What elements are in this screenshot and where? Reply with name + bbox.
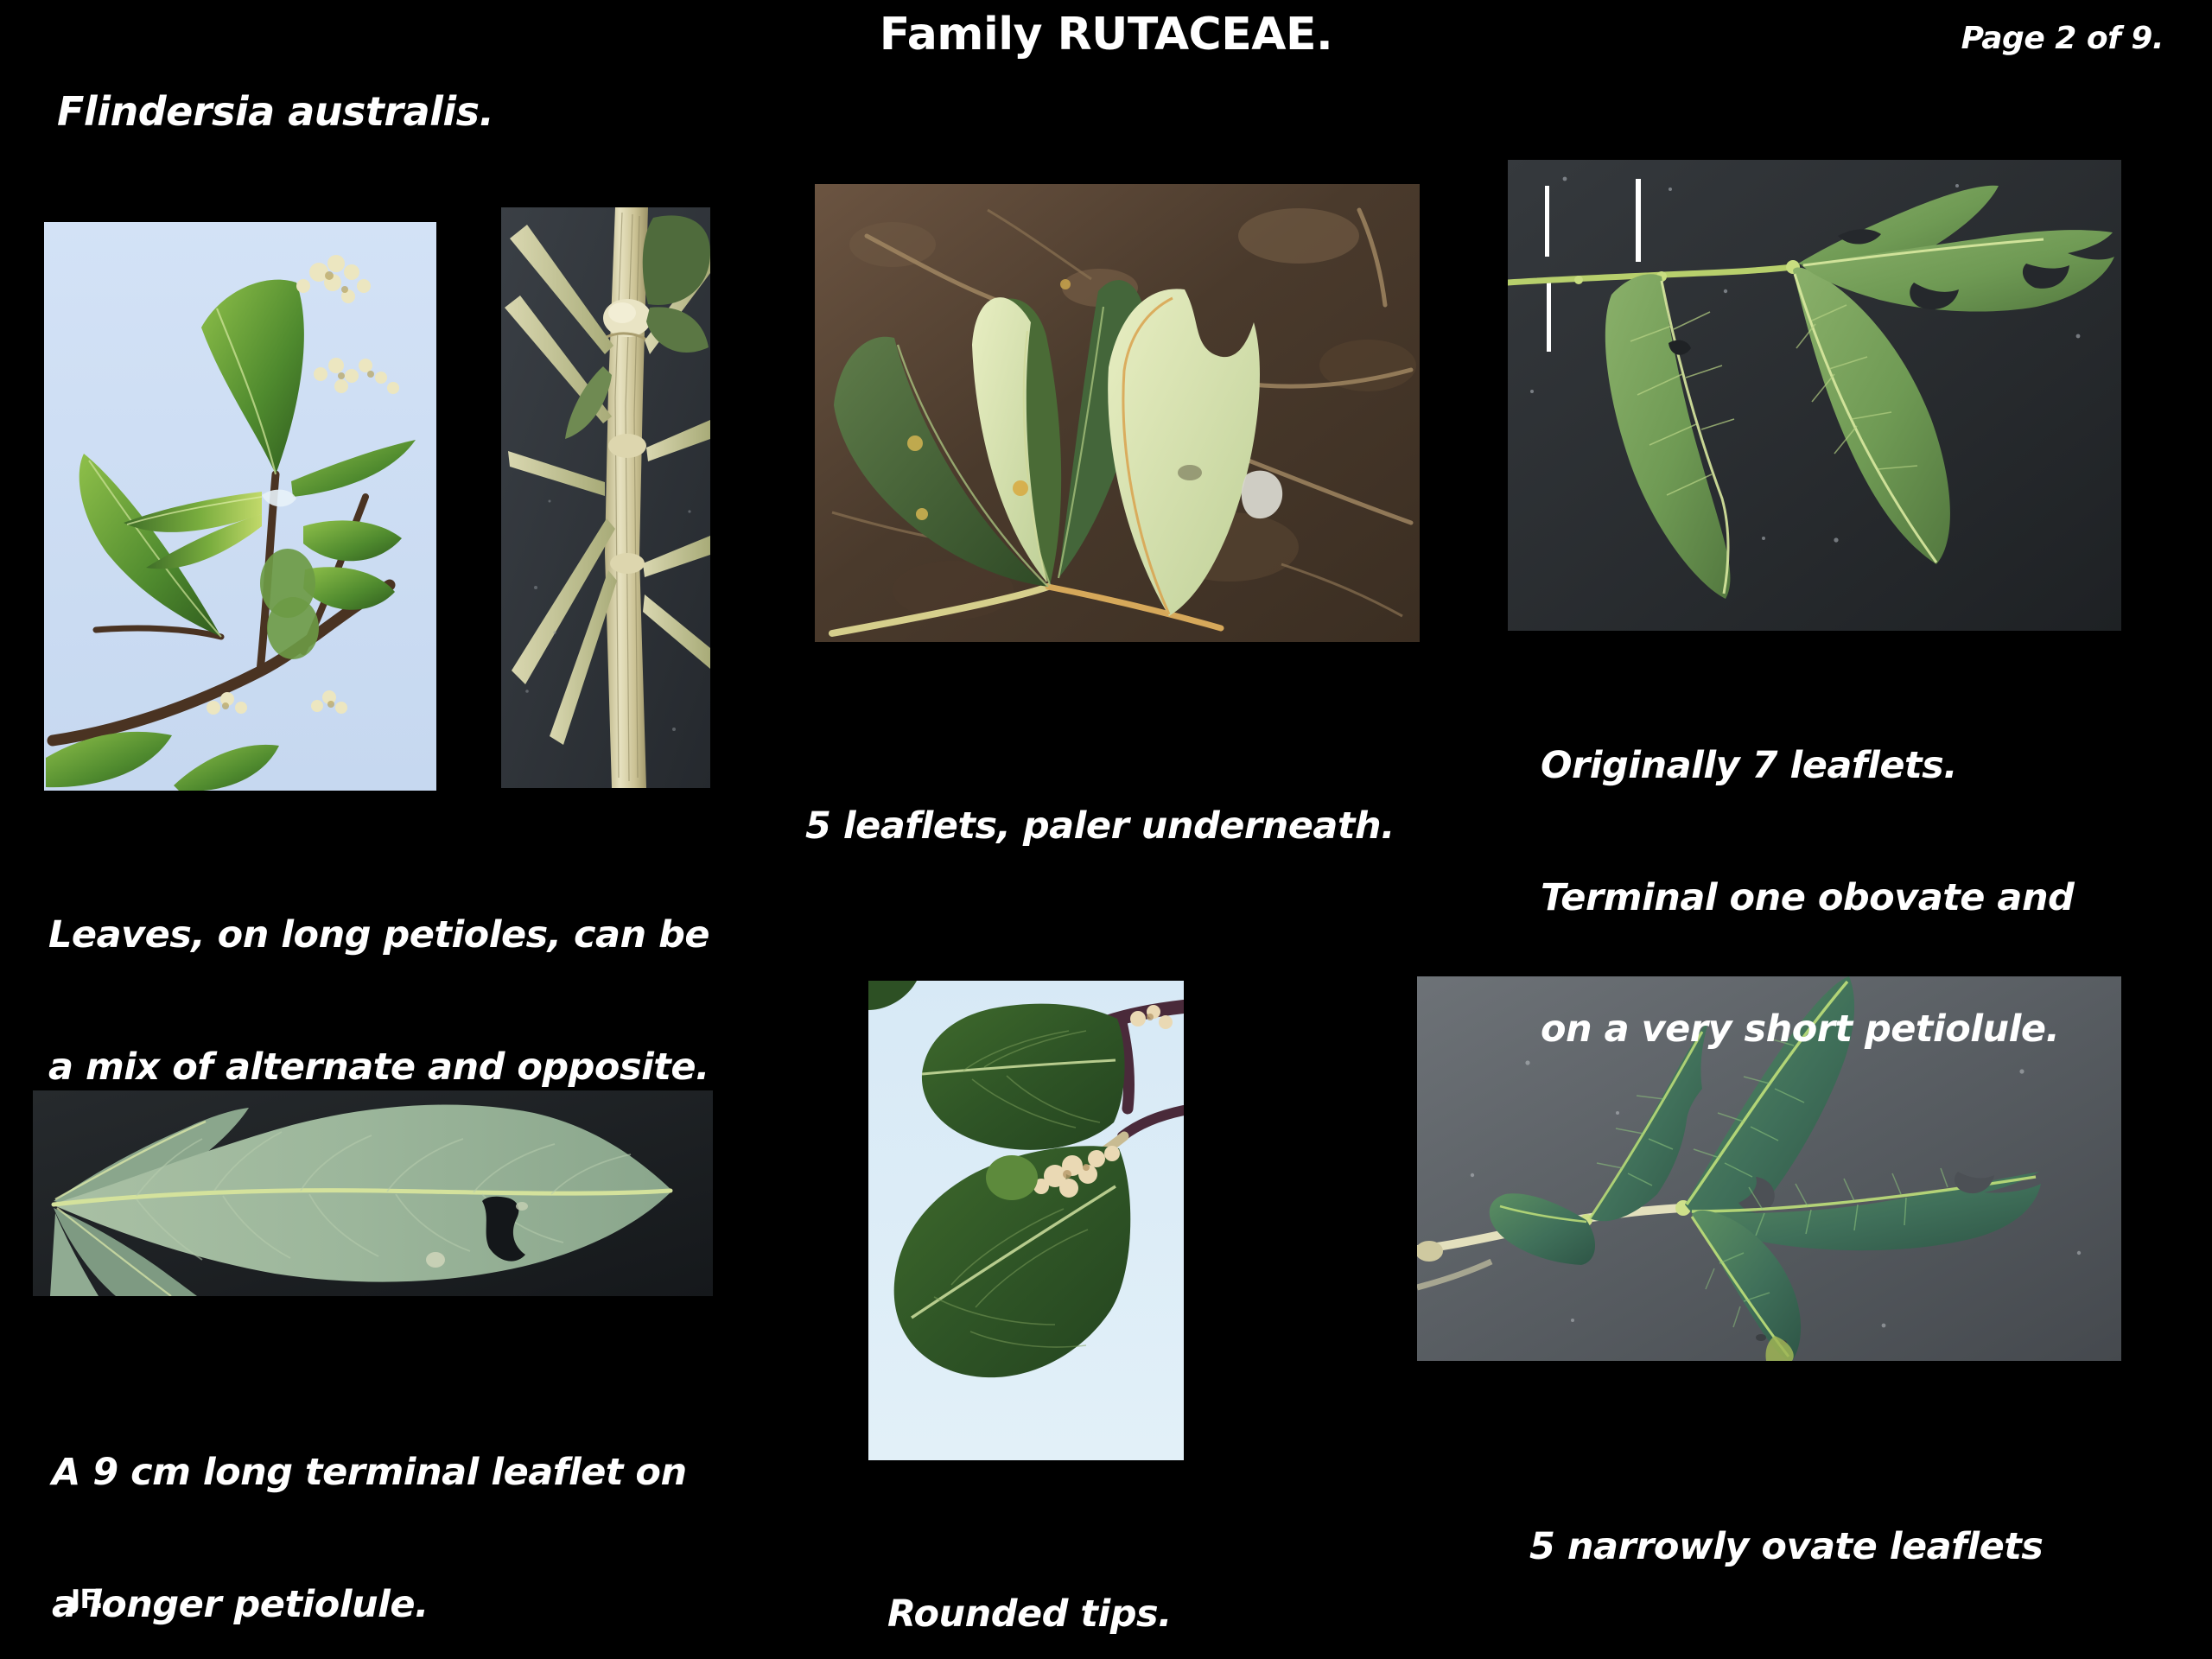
caption-leaves-petioles: Leaves, on long petioles, can be a mix o… <box>48 826 709 1133</box>
caption-rounded-tips: Rounded tips. <box>887 1505 1172 1659</box>
rounded-tips-photo <box>868 981 1184 1460</box>
author-signature: JF. <box>71 1585 103 1615</box>
caption-narrowly-ovate-leaflets: 5 narrowly ovate leaflets with tapering … <box>1529 1438 2043 1659</box>
species-name: Flindersia australis. <box>57 88 494 135</box>
caption-leaflets-paler-underneath: 5 leaflets, paler underneath. <box>805 717 1395 893</box>
caption-line: Originally 7 leaflets. <box>1541 744 2074 788</box>
seven-leaflets-photo <box>1508 160 2121 631</box>
page-title: Family RUTACEAE. <box>0 9 2212 61</box>
caption-line: a longer petiolule. <box>52 1583 687 1627</box>
caption-terminal-leaflet: A 9 cm long terminal leaflet on a longer… <box>52 1363 687 1659</box>
caption-line: Rounded tips. <box>887 1592 1172 1637</box>
page-number: Page 2 of 9. <box>1961 21 2164 57</box>
caption-line: on a very short petiolule. <box>1541 1007 2074 1052</box>
stem-closeup-photo <box>501 207 710 788</box>
caption-originally-seven-leaflets: Originally 7 leaflets. Terminal one obov… <box>1541 657 2074 1095</box>
leaflets-on-soil-photo <box>815 184 1420 642</box>
flowering-branch-photo <box>44 222 436 791</box>
caption-line: 5 narrowly ovate leaflets <box>1529 1525 2043 1569</box>
caption-line: A 9 cm long terminal leaflet on <box>52 1451 687 1495</box>
caption-line: a mix of alternate and opposite. <box>48 1046 709 1090</box>
caption-line: 5 leaflets, paler underneath. <box>805 804 1395 849</box>
caption-line: Leaves, on long petioles, can be <box>48 913 709 957</box>
caption-line: Terminal one obovate and <box>1541 876 2074 920</box>
